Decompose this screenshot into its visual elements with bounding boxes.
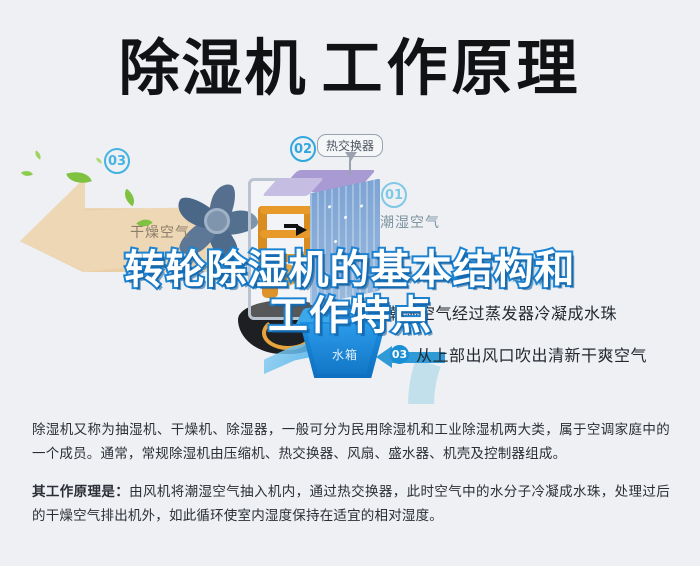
- callout-pointer-icon: [345, 152, 357, 161]
- step-badge-03: 03: [104, 148, 130, 174]
- body-paragraph-2-lead: 其工作原理是：: [32, 484, 129, 499]
- page-title-part2: 工作原理: [322, 33, 582, 104]
- header: 除湿机工作原理: [0, 22, 700, 114]
- leaf-icon: [96, 158, 103, 164]
- step-number-badge: 03: [390, 345, 409, 364]
- callout-leader-line: [349, 159, 351, 175]
- evaporator-fin-texture: [310, 179, 380, 306]
- dry-air-label: 干燥空气: [130, 222, 190, 242]
- coil-tube: [260, 206, 312, 214]
- evaporator-fins: [310, 179, 380, 306]
- leaf-icon: [33, 150, 43, 159]
- step-number-badge: 02: [360, 303, 379, 322]
- flow-arrow-icon: [296, 224, 307, 236]
- page-title-part1: 除湿机: [118, 33, 307, 104]
- step-description-03: 03 从上部出风口吹出清新干爽空气: [390, 342, 647, 366]
- step-description-text: 潮湿空气经过蒸发器冷凝成水珠: [386, 300, 617, 324]
- body-paragraph-1: 除湿机又称为抽湿机、干燥机、除湿器，一般可分为民用除湿机和工业除湿机两大类，属于…: [32, 418, 670, 466]
- step-badge-02: 02: [290, 136, 316, 162]
- step-description-text: 从上部出风口吹出清新干爽空气: [416, 342, 647, 366]
- flow-arrow-icon: [274, 272, 278, 286]
- coil-tube: [260, 254, 312, 262]
- step-description-02: 02 潮湿空气经过蒸发器冷凝成水珠: [360, 300, 617, 324]
- step-description-list: 02 潮湿空气经过蒸发器冷凝成水珠 03 从上部出风口吹出清新干爽空气: [0, 296, 700, 366]
- leaf-icon: [21, 168, 33, 179]
- page-title: 除湿机工作原理: [118, 38, 581, 99]
- step-badge-01: 01: [381, 182, 407, 208]
- body-copy: 除湿机又称为抽湿机、干燥机、除湿器，一般可分为民用除湿机和工业除湿机两大类，属于…: [32, 418, 670, 542]
- humid-air-label: 潮湿空气: [380, 212, 440, 232]
- page-root: 除湿机工作原理: [0, 0, 700, 566]
- body-paragraph-2: 其工作原理是：由风机将潮湿空气抽入机内，通过热交换器，此时空气中的水分子冷凝成水…: [32, 480, 670, 528]
- leaf-icon: [120, 189, 139, 207]
- refrigerant-coil: [256, 202, 318, 298]
- flow-arrow-icon: [270, 262, 282, 273]
- fan-hub: [204, 208, 230, 234]
